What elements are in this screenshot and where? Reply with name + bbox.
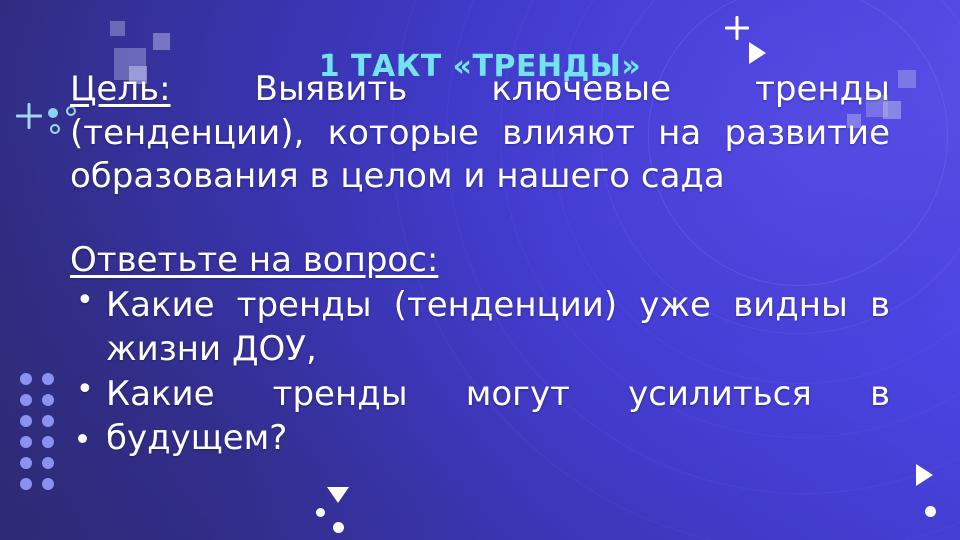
grid-dot xyxy=(42,478,54,490)
plus-icon xyxy=(16,103,42,129)
question-heading: Ответьте на вопрос: xyxy=(70,239,890,283)
grid-dot xyxy=(20,436,32,448)
grid-dot xyxy=(42,373,54,385)
filled-dot xyxy=(48,108,58,118)
list-item: Какие тренды (тенденции) уже видны в жиз… xyxy=(70,284,890,371)
white-dot xyxy=(925,506,936,517)
goal-paragraph: Цель: Выявить ключевые тренды (тенденции… xyxy=(70,68,890,199)
play-triangle-icon xyxy=(916,464,933,486)
grid-dot xyxy=(20,457,32,469)
list-item: Какие тренды могут усилиться в будущем? xyxy=(70,373,890,460)
decorative-square xyxy=(110,21,125,36)
grid-dot xyxy=(20,394,32,406)
grid-dot xyxy=(20,478,32,490)
down-triangle-icon xyxy=(327,487,349,503)
goal-label: Цель: xyxy=(70,69,171,109)
grid-dot xyxy=(42,457,54,469)
goal-text: Выявить ключевые тренды (тенденции), кот… xyxy=(70,69,890,196)
grid-dot xyxy=(20,373,32,385)
decorative-square xyxy=(153,33,170,50)
grid-dot xyxy=(42,415,54,427)
grid-dot xyxy=(42,436,54,448)
grid-dot xyxy=(20,415,32,427)
paragraph-spacer xyxy=(70,199,890,239)
plus-icon xyxy=(725,16,749,40)
question-list: Какие тренды (тенденции) уже видны в жиз… xyxy=(70,284,890,460)
grid-dot xyxy=(42,394,54,406)
presentation-slide: 1 ТАКТ «ТРЕНДЫ» Цель: Выявить ключевые т… xyxy=(0,0,960,540)
slide-body: Цель: Выявить ключевые тренды (тенденции… xyxy=(70,68,890,462)
outline-dot xyxy=(50,124,60,134)
dot-grid-left xyxy=(20,373,54,490)
white-dot xyxy=(316,508,325,517)
white-dot xyxy=(333,522,344,533)
